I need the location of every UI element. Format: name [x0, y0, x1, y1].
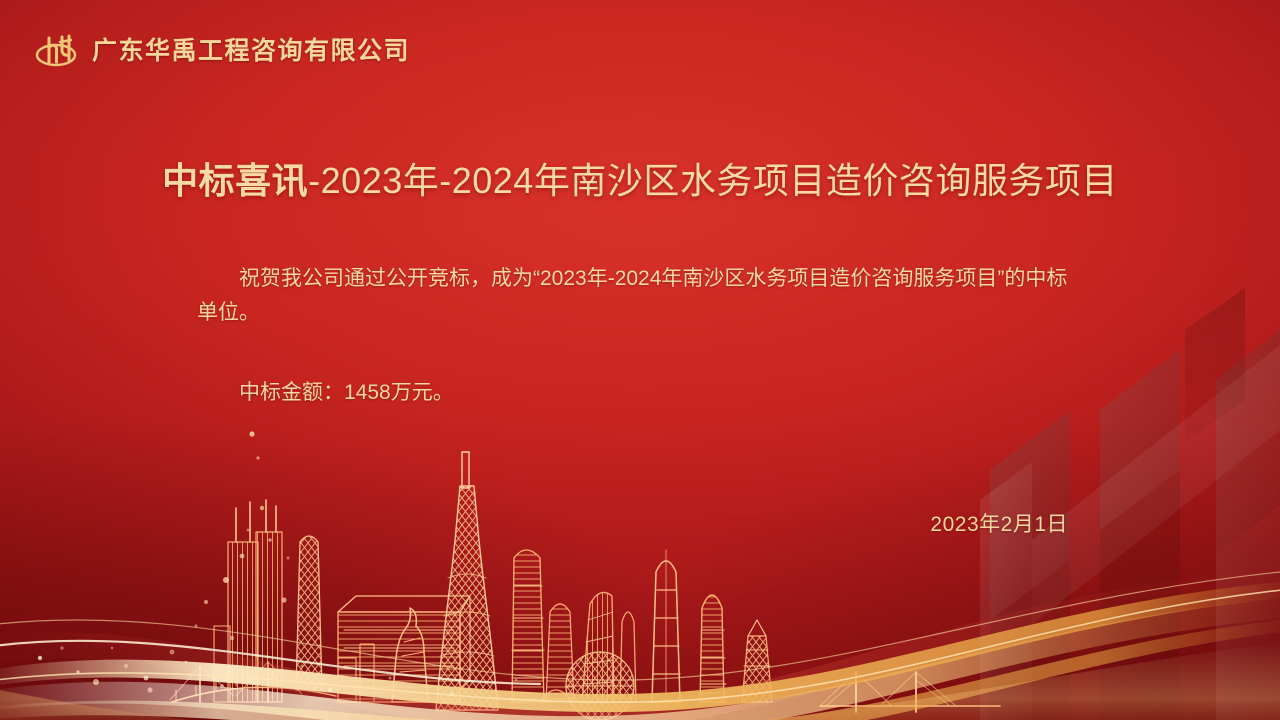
skyline-canton-tower: [436, 452, 498, 710]
company-mark-icon: [34, 29, 78, 69]
skyline-building-sloped-glass: [582, 592, 614, 702]
skyline-building-thin-spire: [620, 612, 636, 702]
announcement-slide: 广东华禹工程咨询有限公司 中标喜讯-2023年-2024年南沙区水务项目造价咨询…: [0, 0, 1280, 720]
skyline-building-lattice-left: [296, 536, 322, 690]
title-lead: 中标喜讯: [162, 160, 308, 201]
skyline-building-ladder-tower: [652, 550, 680, 702]
skyline-building-low-block: [338, 644, 374, 702]
sparkle-particles: [60, 431, 303, 692]
skyline-bridge-right: [820, 672, 1000, 712]
skyline-monument: [392, 608, 428, 702]
page-title: 中标喜讯-2023年-2024年南沙区水务项目造价咨询服务项目: [0, 158, 1280, 203]
skyline-dome: [566, 652, 634, 720]
city-skyline-artwork: [0, 390, 1280, 720]
brand-lockup: 广东华禹工程咨询有限公司: [34, 29, 410, 69]
skyline-building-twin-towers: [214, 500, 282, 702]
issue-date: 2023年2月1日: [930, 508, 1068, 538]
skyline-building-wide-banded: [338, 596, 470, 702]
bid-amount-line: 中标金额：1458万元。: [197, 376, 1087, 410]
congratulation-paragraph: 祝贺我公司通过公开竞标，成为“2023年-2024年南沙区水务项目造价咨询服务项…: [197, 262, 1087, 330]
skyline-building-curved-pair: [512, 550, 574, 702]
golden-light-ribbons: [0, 566, 1280, 720]
skyline-bridge-left: [170, 662, 336, 702]
skyline-arena: [540, 690, 572, 702]
body-text: 祝贺我公司通过公开竞标，成为“2023年-2024年南沙区水务项目造价咨询服务项…: [197, 262, 1087, 410]
title-rest: -2023年-2024年南沙区水务项目造价咨询服务项目: [308, 160, 1118, 201]
ribbon-sparkle-dust: [38, 647, 517, 696]
skyline-building-bullet-tower: [700, 595, 726, 702]
skyline-building-diamond-pylon: [742, 620, 772, 702]
company-name: 广东华禹工程咨询有限公司: [92, 31, 410, 67]
